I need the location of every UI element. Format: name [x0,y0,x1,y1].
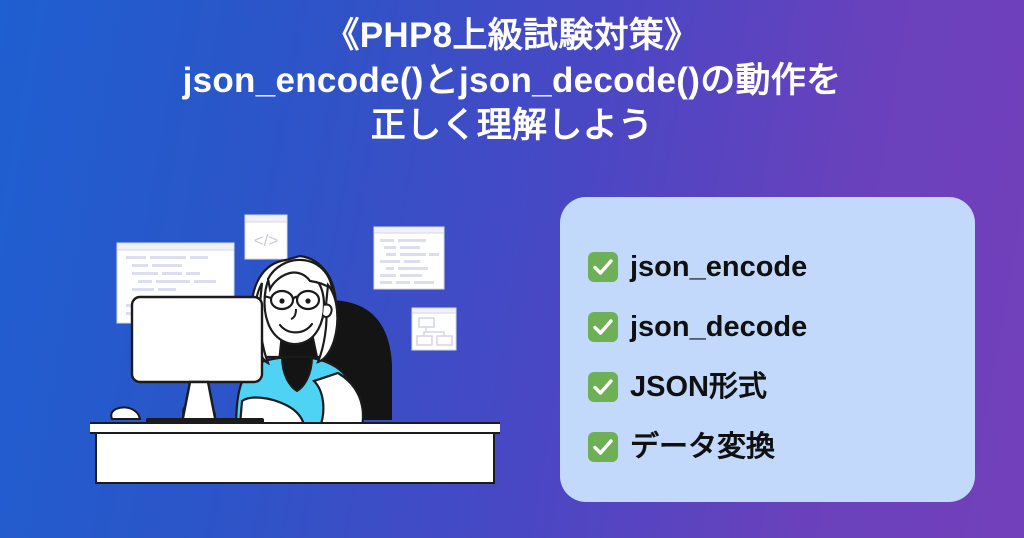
svg-text:</>: </> [254,231,279,250]
slide-canvas: 《PHP8上級試験対策》 json_encode()とjson_decode()… [0,0,1024,538]
list-item[interactable]: データ変換 [588,417,975,477]
desk [90,423,500,483]
flowchart-card [412,308,456,350]
checklist-panel: json_encode json_decode JSON形式 データ変換 [560,197,975,502]
title-line-1: 《PHP8上級試験対策》 [0,14,1024,59]
checklist-item-label: JSON形式 [630,373,767,402]
mouse [111,407,140,419]
list-item[interactable]: json_decode [588,297,975,357]
checklist-item-label: json_encode [630,253,807,282]
page-title: 《PHP8上級試験対策》 json_encode()とjson_decode()… [0,14,1024,148]
developer-illustration: </> [90,205,500,495]
code-snippet-card: </> [245,215,287,259]
title-line-3: 正しく理解しよう [0,104,1024,149]
document-card-right [374,227,444,289]
checkmark-icon[interactable] [588,372,618,402]
checkmark-icon[interactable] [588,252,618,282]
checklist-item-label: json_decode [630,313,807,342]
list-item[interactable]: JSON形式 [588,357,975,417]
checklist-item-label: データ変換 [630,433,775,462]
title-line-2: json_encode()とjson_decode()の動作を [0,59,1024,104]
list-item[interactable]: json_encode [588,237,975,297]
checkmark-icon[interactable] [588,312,618,342]
checkmark-icon[interactable] [588,432,618,462]
